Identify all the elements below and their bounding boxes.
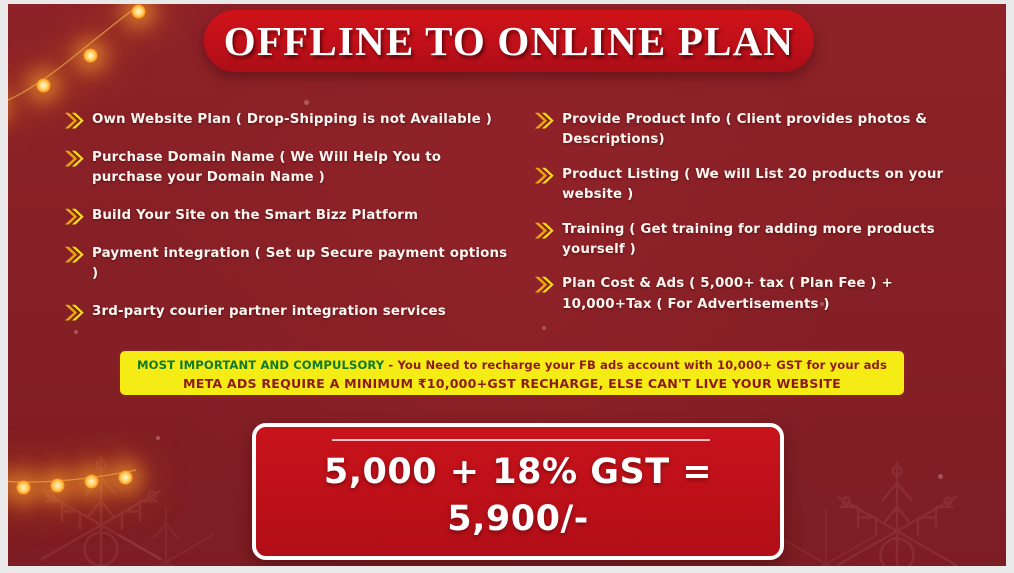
snowflake-watermark xyxy=(26,450,176,566)
fairy-lights-string xyxy=(8,444,208,554)
feature-label: Provide Product Info ( Client provides p… xyxy=(562,110,964,151)
notice-highlight-text: MOST IMPORTANT AND COMPULSORY xyxy=(137,358,384,372)
snowflake-watermark xyxy=(822,456,972,566)
features-column-left: Own Website Plan ( Drop-Shipping is not … xyxy=(64,110,512,342)
double-chevron-icon xyxy=(534,221,555,241)
double-chevron-icon xyxy=(64,303,85,323)
feature-label: Training ( Get training for adding more … xyxy=(562,220,964,261)
feature-label: Plan Cost & Ads ( 5,000+ tax ( Plan Fee … xyxy=(562,274,964,315)
feature-item: Payment integration ( Set up Secure paym… xyxy=(64,244,512,285)
feature-label: Own Website Plan ( Drop-Shipping is not … xyxy=(92,110,492,130)
feature-item: Product Listing ( We will List 20 produc… xyxy=(534,165,964,206)
features-column-right: Provide Product Info ( Client provides p… xyxy=(534,110,964,342)
double-chevron-icon xyxy=(64,245,85,265)
double-chevron-icon xyxy=(64,149,85,169)
double-chevron-icon xyxy=(64,207,85,227)
feature-item: Provide Product Info ( Client provides p… xyxy=(534,110,964,151)
double-chevron-icon xyxy=(64,111,85,131)
feature-item: 3rd-party courier partner integration se… xyxy=(64,302,512,323)
feature-label: Purchase Domain Name ( We Will Help You … xyxy=(92,148,512,189)
double-chevron-icon xyxy=(534,166,555,186)
notice-line-1: MOST IMPORTANT AND COMPULSORY - You Need… xyxy=(137,358,887,372)
double-chevron-icon xyxy=(534,111,555,131)
feature-item: Own Website Plan ( Drop-Shipping is not … xyxy=(64,110,512,131)
notice-body-text: - You Need to recharge your FB ads accou… xyxy=(384,358,887,372)
feature-label: Product Listing ( We will List 20 produc… xyxy=(562,165,964,206)
feature-item: Purchase Domain Name ( We Will Help You … xyxy=(64,148,512,189)
price-divider xyxy=(332,439,710,441)
feature-label: 3rd-party courier partner integration se… xyxy=(92,302,446,322)
price-line-1: 5,000 + 18% GST = xyxy=(256,449,780,496)
feature-item: Plan Cost & Ads ( 5,000+ tax ( Plan Fee … xyxy=(534,274,964,315)
snowflake-watermark xyxy=(766,504,886,566)
feature-label: Payment integration ( Set up Secure paym… xyxy=(92,244,512,285)
page-title: OFFLINE TO ONLINE PLAN xyxy=(224,17,795,65)
price-box: 5,000 + 18% GST = 5,900/- xyxy=(252,423,784,560)
snowflake-watermark xyxy=(106,502,226,566)
price-line-2: 5,900/- xyxy=(256,496,780,543)
poster-canvas: OFFLINE TO ONLINE PLAN Own Website Plan … xyxy=(8,4,1006,566)
notice-line-2: META ADS REQUIRE A MINIMUM ₹10,000+GST R… xyxy=(183,376,841,391)
double-chevron-icon xyxy=(534,275,555,295)
feature-item: Build Your Site on the Smart Bizz Platfo… xyxy=(64,206,512,227)
important-notice-banner: MOST IMPORTANT AND COMPULSORY - You Need… xyxy=(118,349,906,397)
features-section: Own Website Plan ( Drop-Shipping is not … xyxy=(64,110,964,342)
feature-label: Build Your Site on the Smart Bizz Platfo… xyxy=(92,206,418,226)
feature-item: Training ( Get training for adding more … xyxy=(534,220,964,261)
price-text: 5,000 + 18% GST = 5,900/- xyxy=(256,449,780,544)
page-title-banner: OFFLINE TO ONLINE PLAN xyxy=(204,10,814,72)
